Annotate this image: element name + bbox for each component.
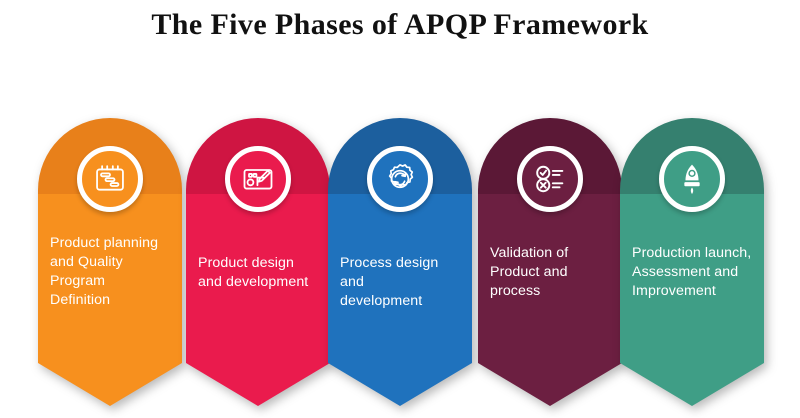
phase-card-5[interactable]: Production launch, Assessment and Improv… [620,118,764,410]
phase-label-4: Validation of Product and process [490,244,616,301]
phase-label-3: Process design and development [340,254,466,311]
phase-badge-4 [517,146,583,212]
page-title: The Five Phases of APQP Framework [0,8,800,42]
gantt-chart-icon [92,161,128,197]
checklist-pass-fail-icon [532,161,568,197]
phases-row: Product planning and Quality Program Def… [0,118,800,410]
phase-body-4 [478,194,622,410]
phase-card-4[interactable]: Validation of Product and process [478,118,622,410]
gear-refresh-icon [382,161,418,197]
infographic-canvas: The Five Phases of APQP Framework Produc… [0,0,800,418]
drawing-tablet-pencil-icon [240,161,276,197]
phase-body-2 [186,194,330,410]
phase-badge-5 [659,146,725,212]
phase-label-1: Product planning and Quality Program Def… [50,234,176,310]
phase-badge-2 [225,146,291,212]
phase-card-1[interactable]: Product planning and Quality Program Def… [38,118,182,410]
phase-card-2[interactable]: Product design and development [186,118,330,410]
phase-card-3[interactable]: Process design and development [328,118,472,410]
phase-badge-1 [77,146,143,212]
phase-label-5: Production launch, Assessment and Improv… [632,244,758,301]
phase-label-2: Product design and development [198,254,324,292]
rocket-launch-icon [674,161,710,197]
phase-body-5 [620,194,764,410]
phase-badge-3 [367,146,433,212]
